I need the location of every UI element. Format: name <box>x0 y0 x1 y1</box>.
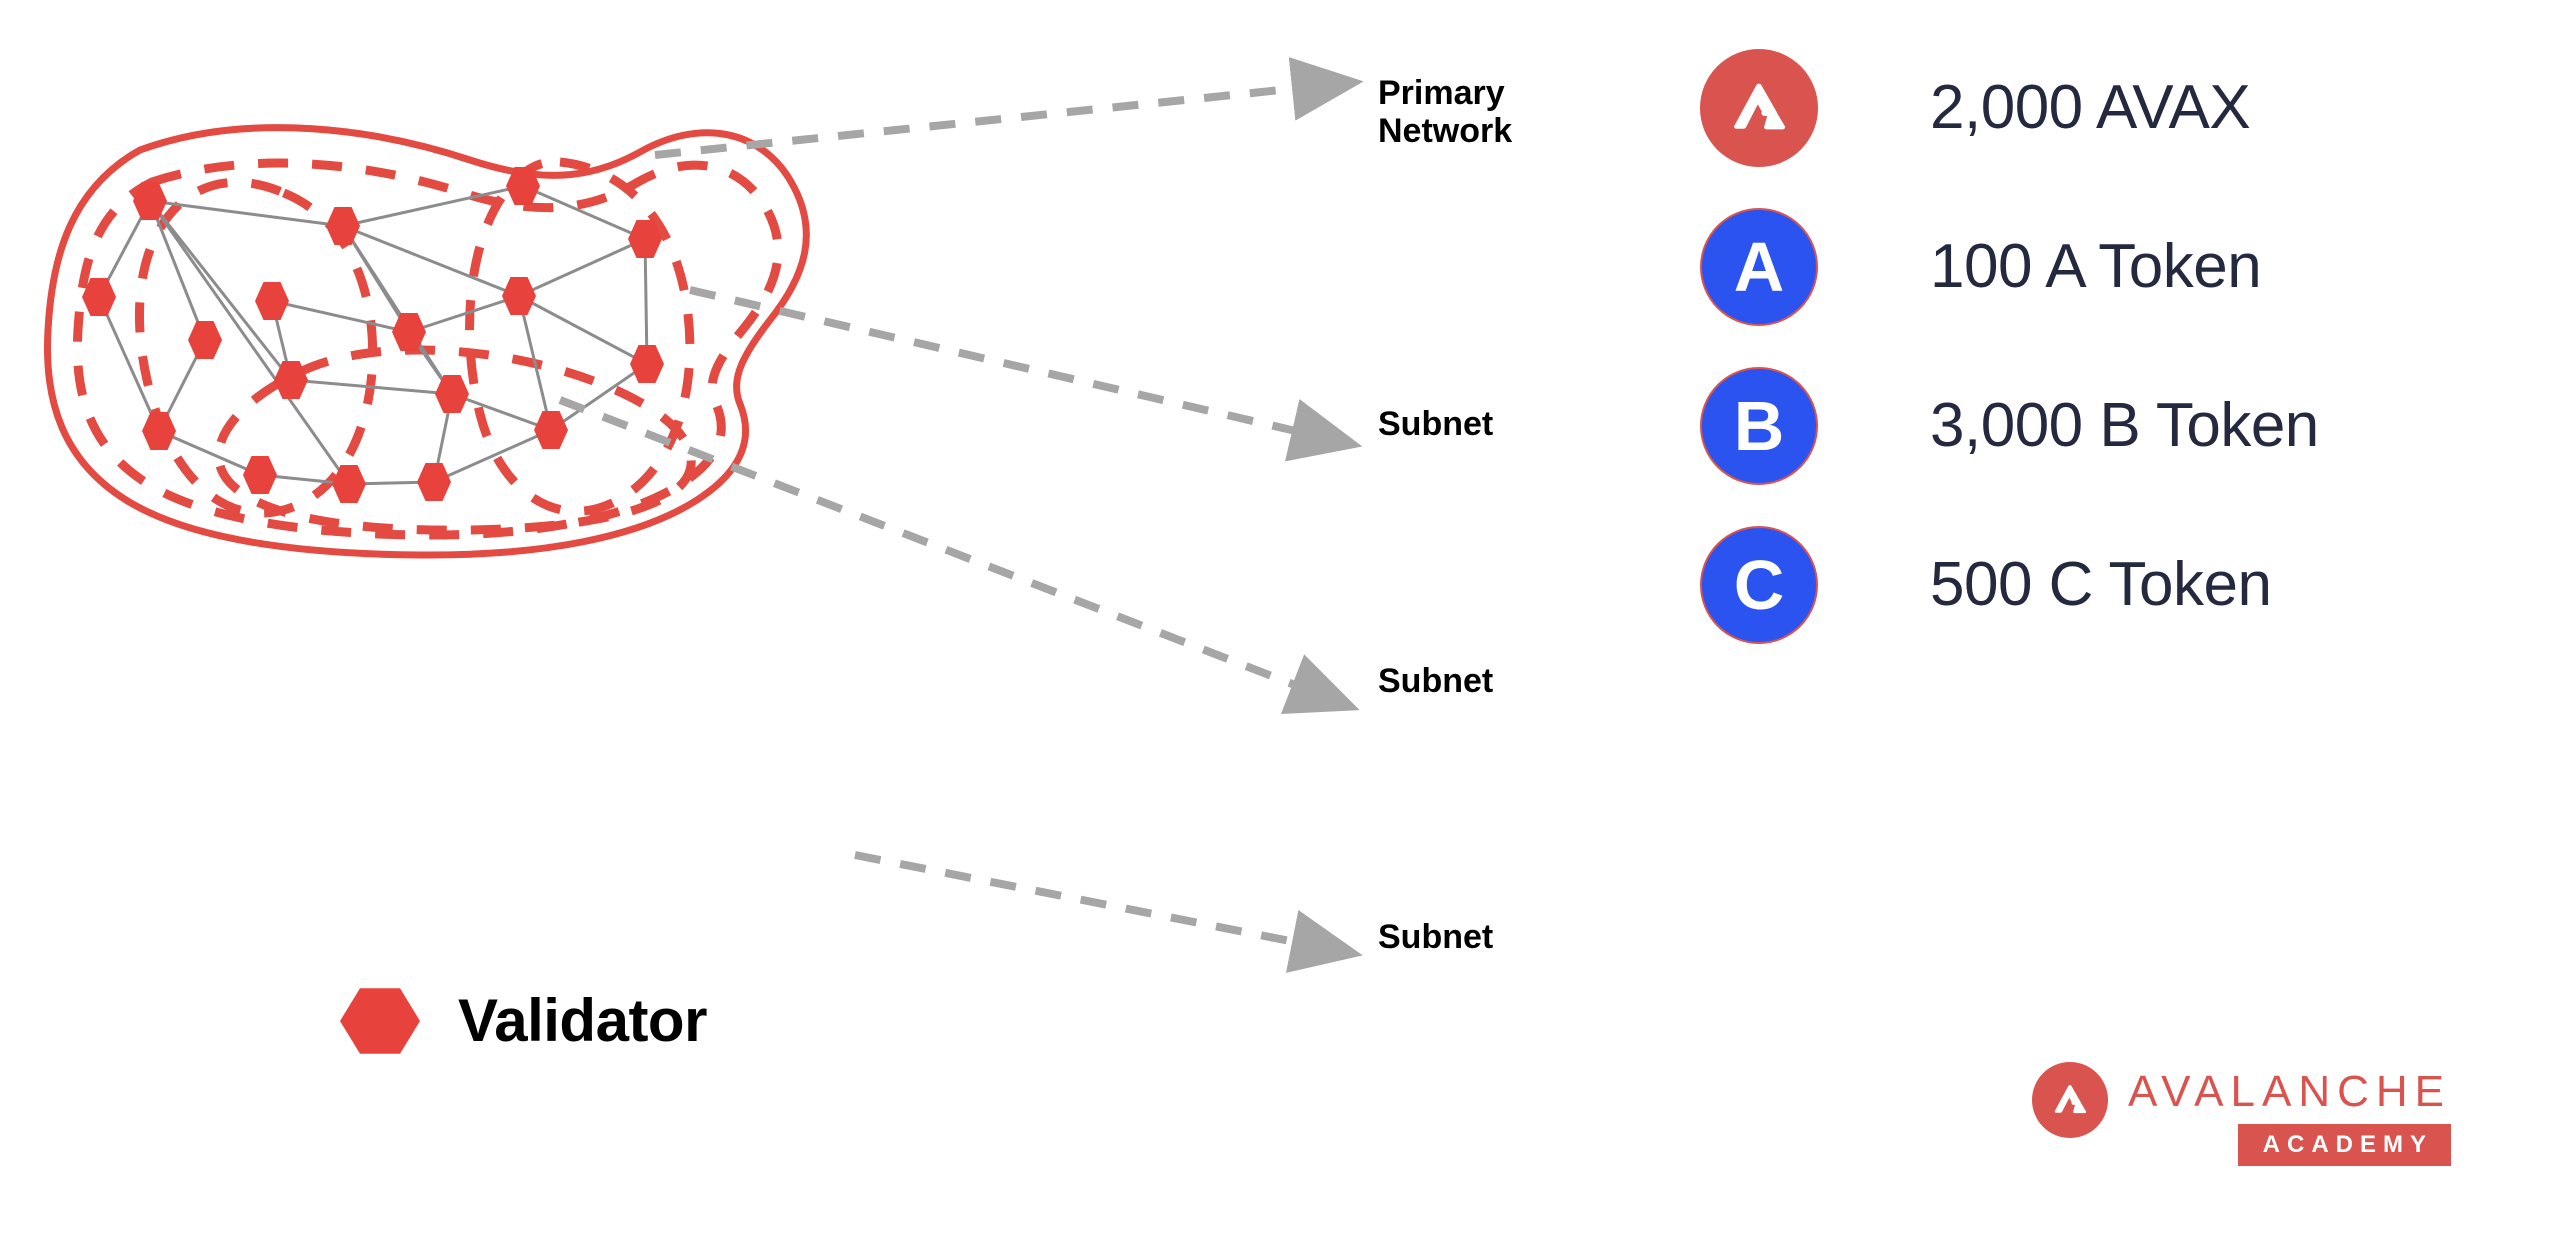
validator-link <box>409 296 519 332</box>
academy-brand-name: AVALANCHE <box>2128 1070 2451 1114</box>
validator-link <box>150 201 205 340</box>
subnet-b-badge: B <box>1700 367 1818 485</box>
subnet-c-badge: C <box>1700 526 1818 644</box>
legend: Validator <box>340 985 707 1057</box>
subnet-b-badge-letter: B <box>1734 391 1785 461</box>
subnet-a-badge: A <box>1700 208 1818 326</box>
callout-label-subnet-a: Subnet <box>1378 405 1493 443</box>
token-row-subnet-c: C 500 C Token <box>1700 505 2540 664</box>
validator-node <box>417 463 451 501</box>
validator-link <box>99 297 159 431</box>
diagram-canvas: Primary Network Subnet Subnet Subnet Val… <box>0 0 2558 1258</box>
validator-link <box>343 226 519 296</box>
token-row-subnet-a: A 100 A Token <box>1700 187 2540 346</box>
validator-node <box>255 282 289 320</box>
academy-wordmark: AVALANCHE ACADEMY <box>2128 1062 2451 1166</box>
callout-label-primary-network: Primary Network <box>1378 74 1512 150</box>
token-row-avax: 2,000 AVAX <box>1700 28 2540 187</box>
validator-node <box>630 345 664 383</box>
validator-node <box>534 411 568 449</box>
validator-node <box>326 207 360 245</box>
validator-node <box>502 277 536 315</box>
subnet-b-boundary <box>470 162 690 512</box>
avalanche-mark-glyph <box>2046 1076 2094 1124</box>
callout-label-subnet-b: Subnet <box>1378 662 1493 700</box>
avalanche-academy-logo: AVALANCHE ACADEMY <box>2032 1062 2451 1166</box>
token-amount-subnet-a: 100 A Token <box>1930 231 2261 302</box>
validator-node <box>142 412 176 450</box>
validator-node <box>188 321 222 359</box>
academy-sub-badge: ACADEMY <box>2238 1124 2451 1166</box>
validator-node <box>332 465 366 503</box>
subnet-c-badge-letter: C <box>1734 550 1785 620</box>
token-amount-avax: 2,000 AVAX <box>1930 72 2250 143</box>
callout-arrow-subnet-c <box>855 855 1300 943</box>
validator-link <box>434 430 551 482</box>
validator-node <box>243 456 277 494</box>
validator-link <box>452 394 551 430</box>
token-amount-subnet-c: 500 C Token <box>1930 549 2272 620</box>
callout-arrow-subnet-a <box>690 290 1300 432</box>
token-legend-list: 2,000 AVAX A 100 A Token B 3,000 B Token… <box>1700 28 2540 664</box>
subnet-a-badge-letter: A <box>1734 232 1785 302</box>
legend-label: Validator <box>458 991 707 1051</box>
token-amount-subnet-b: 3,000 B Token <box>1930 390 2319 461</box>
avalanche-logo-icon <box>1720 69 1798 147</box>
validator-link <box>150 201 343 226</box>
callout-label-subnet-c: Subnet <box>1378 918 1493 956</box>
validator-link <box>272 301 409 332</box>
avax-logo-badge <box>1700 49 1818 167</box>
token-row-subnet-b: B 3,000 B Token <box>1700 346 2540 505</box>
validator-link <box>159 431 260 475</box>
validator-hexagon-icon <box>340 985 420 1057</box>
validator-link <box>519 296 647 364</box>
validator-link <box>519 239 645 296</box>
validator-node <box>435 375 469 413</box>
avalanche-logo-icon-small <box>2032 1062 2108 1138</box>
callout-arrow-primary <box>655 88 1300 155</box>
